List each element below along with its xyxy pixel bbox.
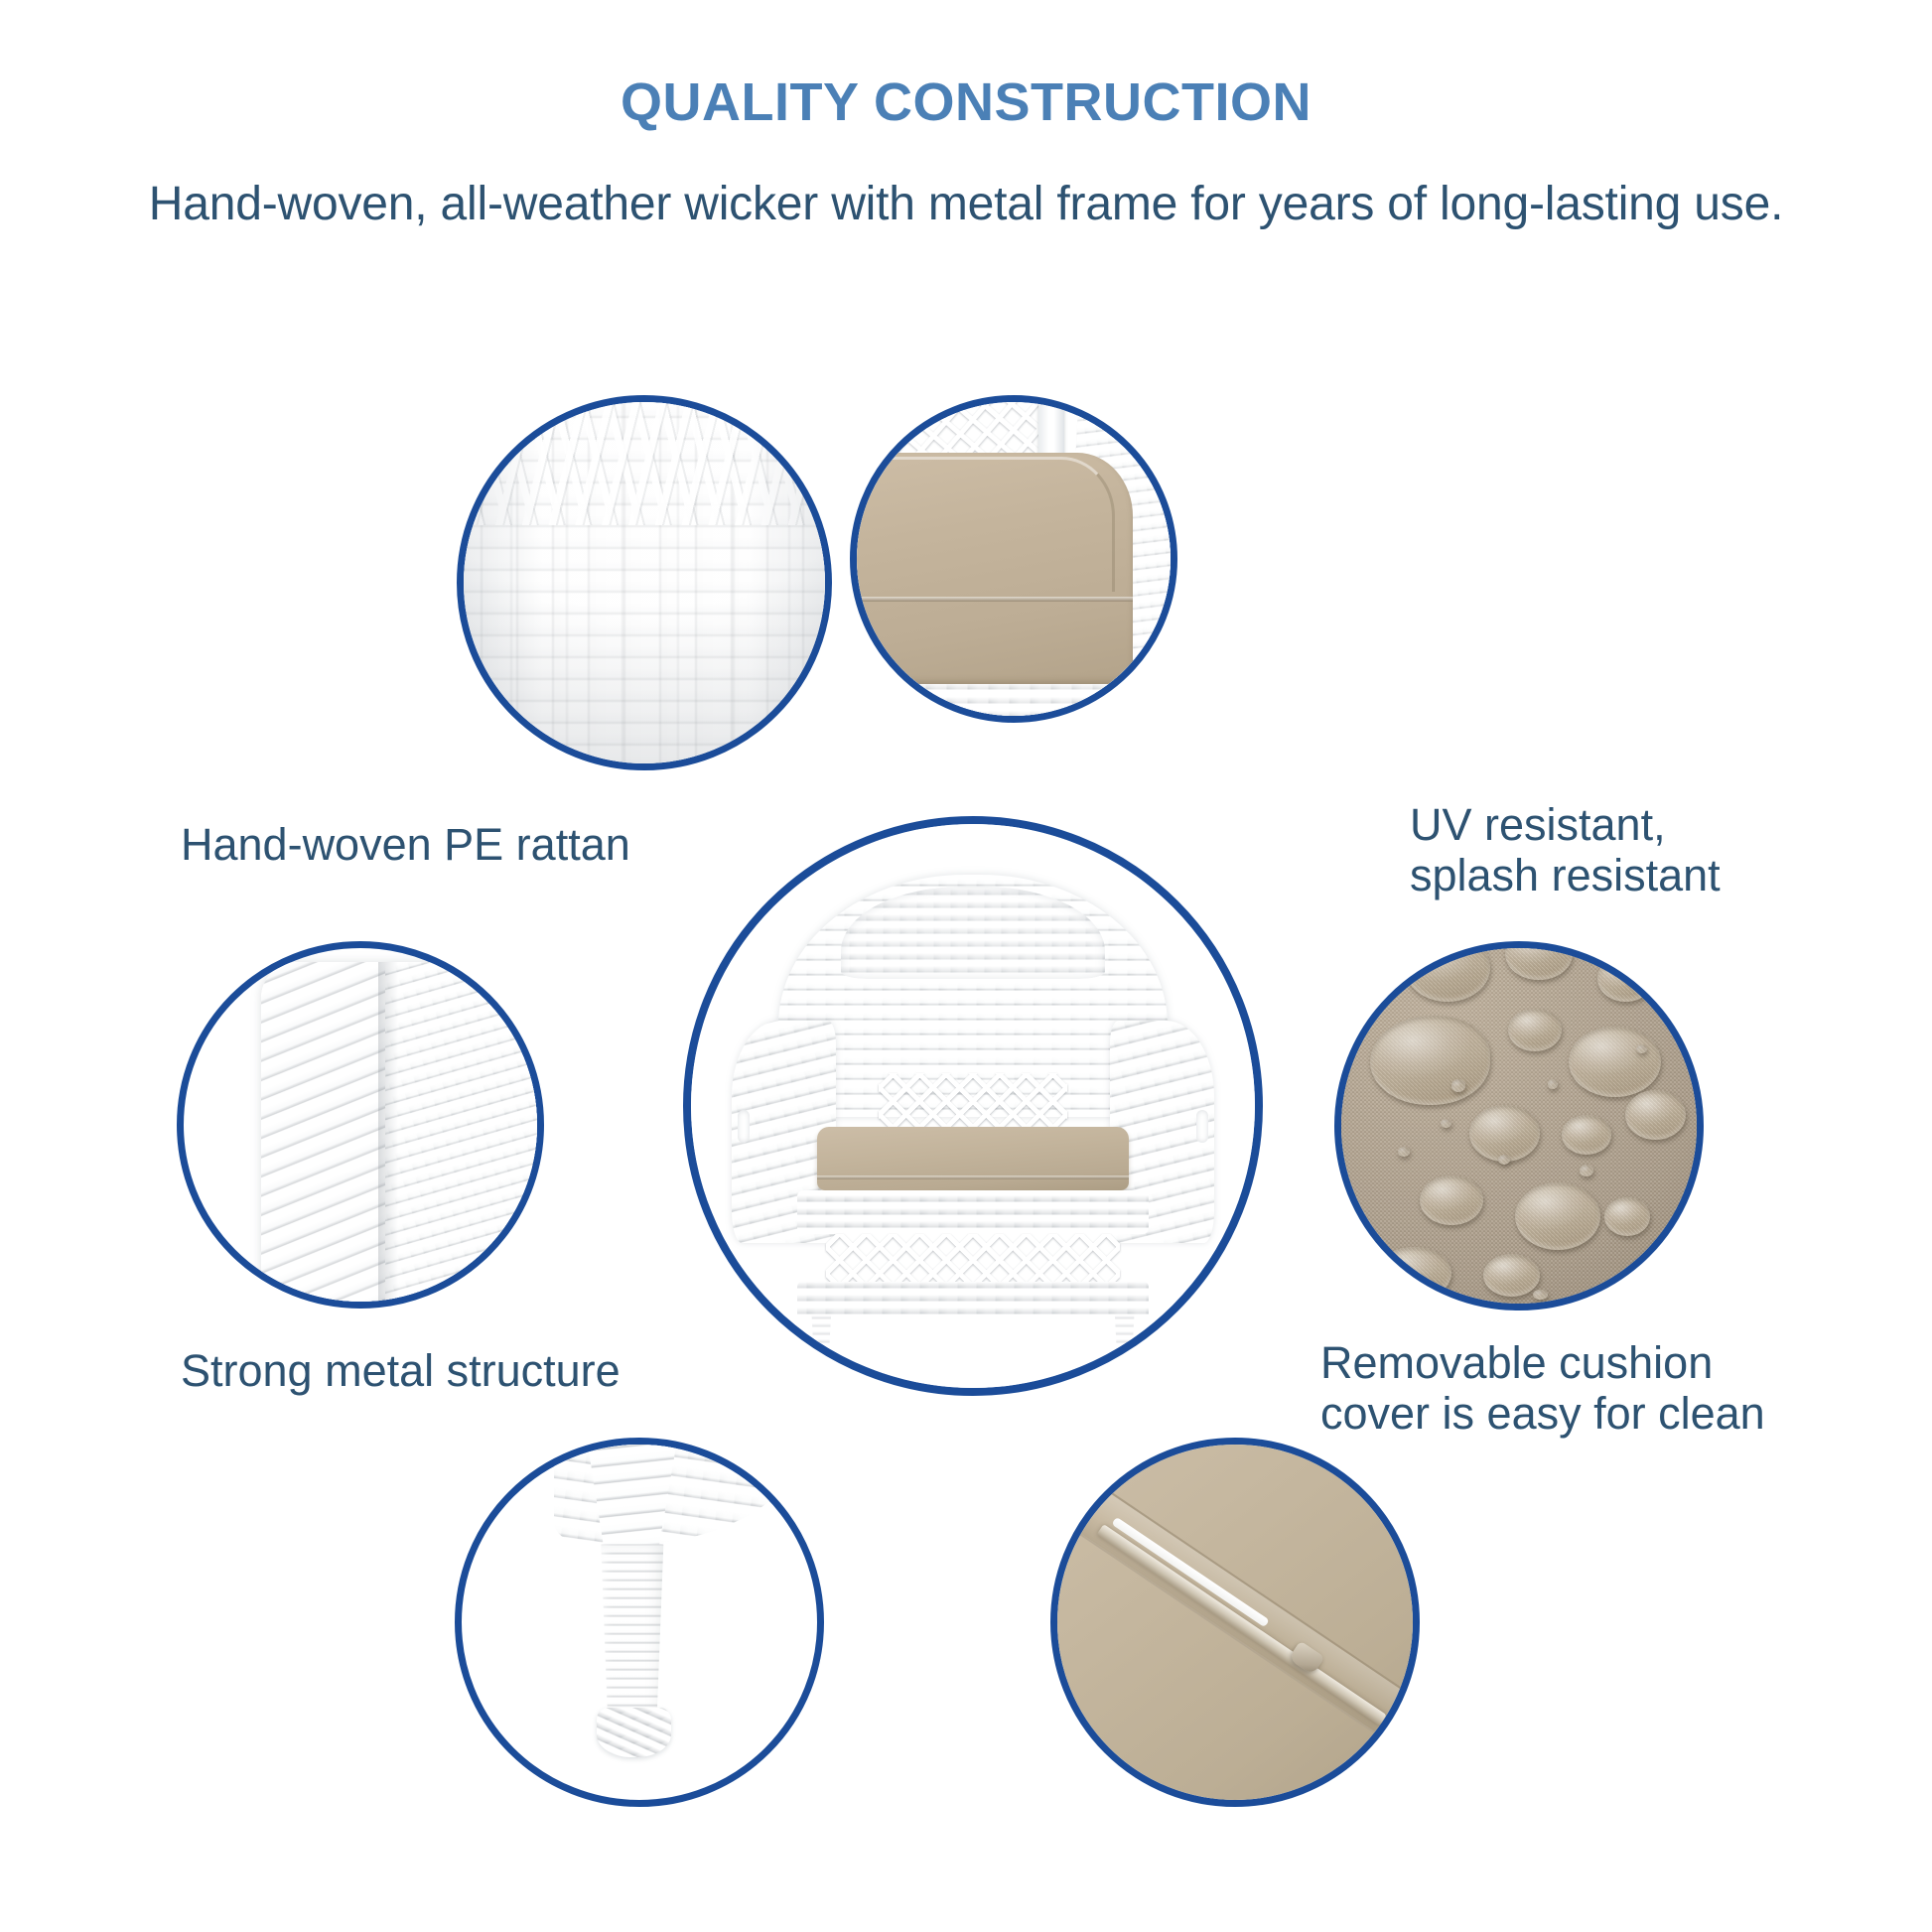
cushion-icon [857,402,1171,716]
feature-circle-strong-metal-structure [177,941,544,1309]
page-subtitle: Hand-woven, all-weather wicker with meta… [0,177,1932,231]
frame-corner-icon [184,948,537,1302]
water-droplets-icon [1341,948,1697,1304]
feature-circle-product-hero [683,816,1263,1396]
feature-label-hand-woven-pe-rattan: Hand-woven PE rattan [181,820,776,871]
feature-label-strong-metal-structure: Strong metal structure [181,1346,796,1397]
feature-circle-zipper-detail [1050,1438,1420,1807]
feature-label-removable-cushion-cover: Removable cushion cover is easy for clea… [1320,1338,1916,1440]
feature-circle-uv-splash-resistant [850,395,1177,723]
feature-circle-removable-cushion-cover [1334,941,1704,1311]
zipper-icon [1057,1445,1413,1800]
infographic-root: QUALITY CONSTRUCTION Hand-woven, all-wea… [0,0,1932,1932]
feature-circle-hand-woven-pe-rattan [457,395,832,770]
chair-leg-icon [462,1445,817,1800]
page-title: QUALITY CONSTRUCTION [0,71,1932,133]
feature-circle-chair-leg-detail [455,1438,824,1807]
feature-label-uv-splash-resistant: UV resistant, splash resistant [1410,800,1926,901]
wicker-armchair-icon [691,824,1255,1388]
wicker-weave-icon [464,402,825,763]
